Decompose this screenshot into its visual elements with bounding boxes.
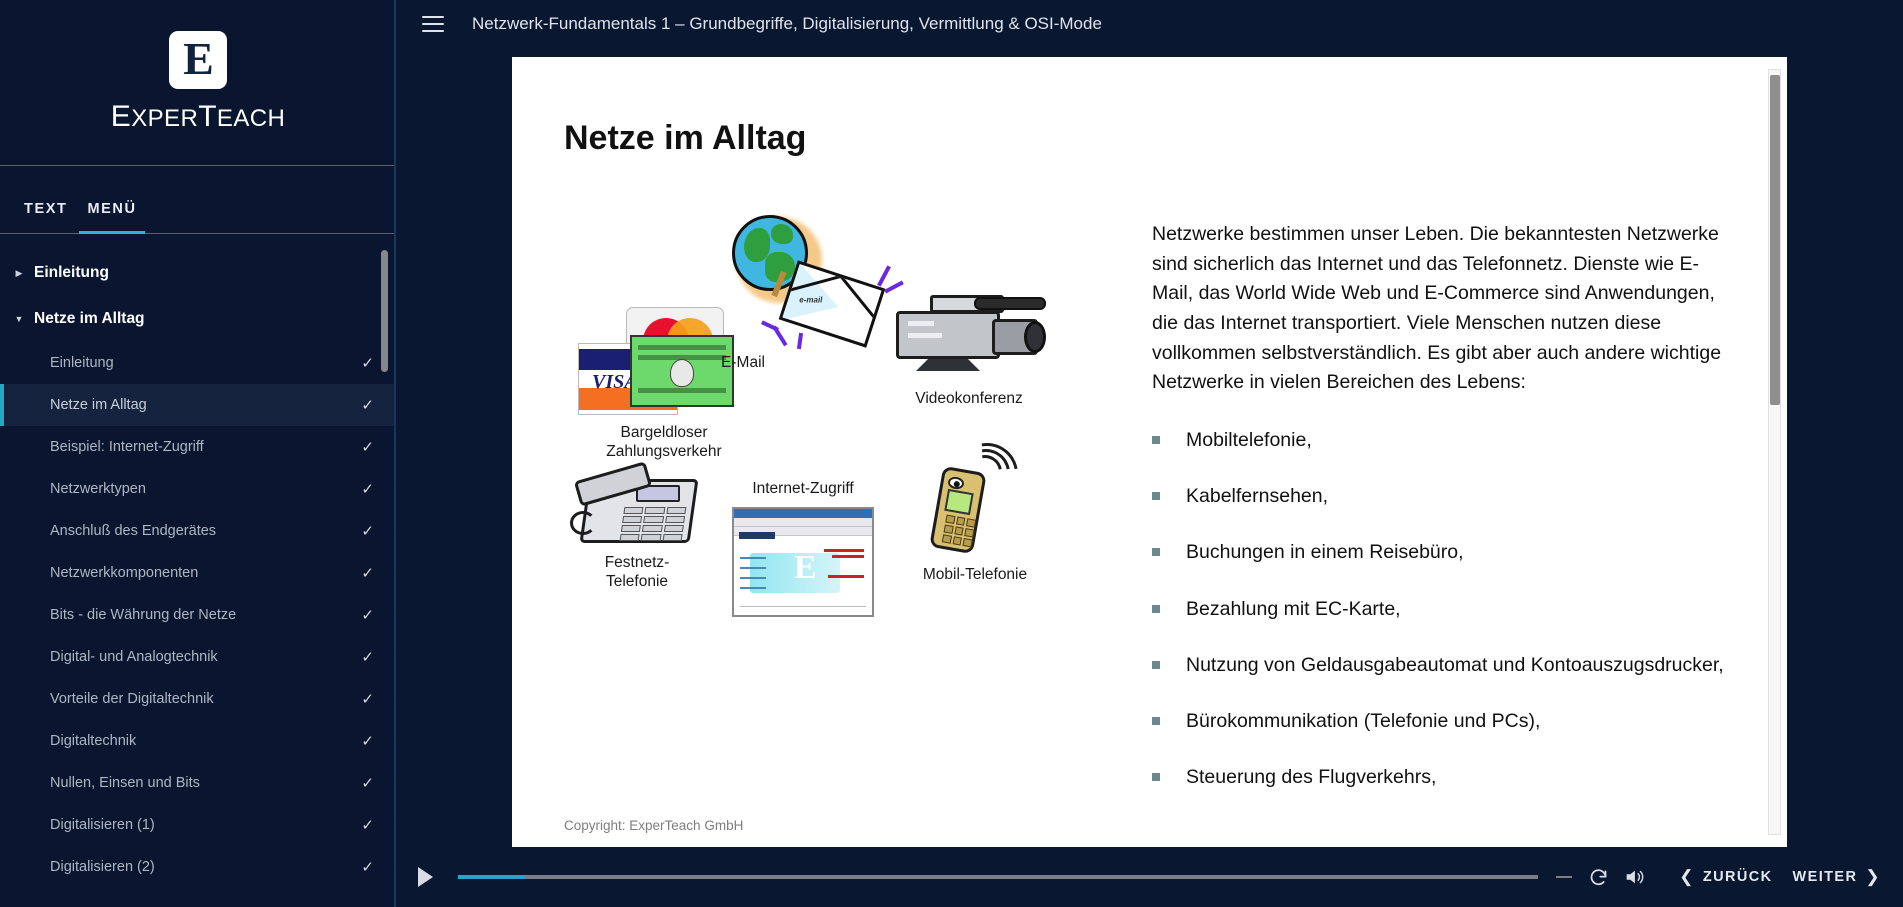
label-festnetz-telefonie: Festnetz- Telefonie bbox=[562, 553, 712, 592]
chevron-left-icon: ❮ bbox=[1679, 867, 1695, 887]
play-icon[interactable] bbox=[410, 862, 440, 892]
course-title: Netzwerk-Fundamentals 1 – Grundbegriffe,… bbox=[472, 14, 1102, 34]
check-icon: ✓ bbox=[358, 608, 374, 623]
list-item: Buchungen in einem Reisebüro, bbox=[1152, 538, 1739, 567]
sidebar-item-label: Digitalisieren (1) bbox=[50, 817, 155, 833]
menu-list: ▶ Einleitung ▼ Netze im Alltag Einleitun… bbox=[0, 250, 396, 907]
list-item: Steuerung des Flugverkehrs, bbox=[1152, 763, 1739, 792]
list-item-label: Buchungen in einem Reisebüro, bbox=[1186, 538, 1464, 567]
check-icon: ✓ bbox=[358, 734, 374, 749]
envelope-icon: e-mail bbox=[779, 260, 886, 347]
check-icon: ✓ bbox=[358, 440, 374, 455]
sidebar-item-label: Anschluß des Endgerätes bbox=[50, 523, 216, 539]
bullet-square-icon bbox=[1152, 548, 1160, 556]
menu-scroll-region[interactable]: ▶ Einleitung ▼ Netze im Alltag Einleitun… bbox=[0, 234, 396, 907]
sidebar-item-vorteile-der-digitaltechnik[interactable]: Vorteile der Digitaltechnik ✓ bbox=[0, 678, 396, 720]
label-bargeldloser-zahlungsverkehr: Bargeldloser Zahlungsverkehr bbox=[554, 423, 774, 462]
chevron-right-icon: ❯ bbox=[1865, 867, 1881, 887]
alltag-illustration: MasterCard VISA bbox=[512, 207, 1102, 799]
menu-group-label: Netze im Alltag bbox=[34, 310, 145, 328]
elearning-player-app: E EXPERTEACH TEXT MENÜ ▶ Einleitung ▼ Ne… bbox=[0, 0, 1903, 907]
experteach-logo-icon: E bbox=[169, 31, 227, 89]
slide-stage: Netze im Alltag MasterCard bbox=[396, 48, 1903, 847]
check-icon: ✓ bbox=[358, 818, 374, 833]
sidebar-item-digitaltechnik[interactable]: Digitaltechnik ✓ bbox=[0, 720, 396, 762]
list-item: Nutzung von Geldausgabeautomat und Konto… bbox=[1152, 651, 1739, 680]
back-button[interactable]: ❮ ZURÜCK bbox=[1679, 867, 1772, 887]
sidebar-item-label: Digitalisieren (2) bbox=[50, 859, 155, 875]
divider-dash bbox=[1556, 876, 1572, 878]
sidebar-item-label: Einleitung bbox=[50, 355, 114, 371]
sidebar-item-digitalisieren-1[interactable]: Digitalisieren (1) ✓ bbox=[0, 804, 396, 846]
next-button-label: WEITER bbox=[1793, 869, 1858, 885]
next-button[interactable]: WEITER ❯ bbox=[1793, 867, 1881, 887]
brand-header: E EXPERTEACH bbox=[0, 0, 396, 166]
top-bar: Netzwerk-Fundamentals 1 – Grundbegriffe,… bbox=[396, 0, 1903, 48]
bullet-square-icon bbox=[1152, 773, 1160, 781]
examples-list: Mobiltelefonie, Kabelfernsehen, Buchunge… bbox=[1152, 426, 1739, 793]
bullet-square-icon bbox=[1152, 436, 1160, 444]
progress-slider[interactable] bbox=[458, 875, 1538, 879]
label-mobil-telefonie: Mobil-Telefonie bbox=[900, 565, 1050, 584]
sidebar-item-label: Digitaltechnik bbox=[50, 733, 136, 749]
menu-group-einleitung[interactable]: ▶ Einleitung bbox=[0, 250, 396, 296]
check-icon: ✓ bbox=[358, 482, 374, 497]
sidebar-item-netzwerkkomponenten[interactable]: Netzwerkkomponenten ✓ bbox=[0, 552, 396, 594]
sidebar-item-label: Nullen, Einsen und Bits bbox=[50, 775, 200, 791]
check-icon: ✓ bbox=[358, 524, 374, 539]
mobile-phone-icon bbox=[910, 455, 1030, 565]
list-item-label: Bezahlung mit EC-Karte, bbox=[1186, 595, 1401, 624]
sidebar-item-anschluss-des-endgeraetes[interactable]: Anschluß des Endgerätes ✓ bbox=[0, 510, 396, 552]
label-internet-zugriff: Internet-Zugriff bbox=[708, 479, 898, 498]
bullet-square-icon bbox=[1152, 492, 1160, 500]
sidebar-item-bits-waehrung-der-netze[interactable]: Bits - die Währung der Netze ✓ bbox=[0, 594, 396, 636]
copyright-text: Copyright: ExperTeach GmbH bbox=[564, 818, 743, 833]
sidebar-item-label: Netzwerkkomponenten bbox=[50, 565, 198, 581]
list-item: Bürokommunikation (Telefonie und PCs), bbox=[1152, 707, 1739, 736]
list-item-label: Mobiltelefonie, bbox=[1186, 426, 1312, 455]
check-icon: ✓ bbox=[358, 356, 374, 371]
replay-icon[interactable] bbox=[1588, 867, 1609, 888]
sidebar-item-label: Beispiel: Internet-Zugriff bbox=[50, 439, 204, 455]
chevron-down-icon: ▼ bbox=[10, 315, 28, 324]
check-icon: ✓ bbox=[358, 398, 374, 413]
envelope-label: e-mail bbox=[799, 295, 822, 304]
logo-letter: E bbox=[183, 36, 213, 82]
email-globe-icon: e-mail bbox=[724, 213, 904, 358]
slide: Netze im Alltag MasterCard bbox=[512, 57, 1787, 847]
intro-paragraph: Netzwerke bestimmen unser Leben. Die bek… bbox=[1152, 220, 1739, 398]
list-item-label: Nutzung von Geldausgabeautomat und Konto… bbox=[1186, 651, 1724, 680]
chevron-right-icon: ▶ bbox=[10, 269, 28, 278]
check-icon: ✓ bbox=[358, 650, 374, 665]
menu-group-netze-im-alltag[interactable]: ▼ Netze im Alltag bbox=[0, 296, 396, 342]
sidebar-scrollbar-thumb[interactable] bbox=[381, 250, 388, 372]
sidebar-item-label: Netzwerktypen bbox=[50, 481, 146, 497]
sidebar-tabs: TEXT MENÜ bbox=[0, 166, 396, 234]
check-icon: ✓ bbox=[358, 860, 374, 875]
menu-group-label: Einleitung bbox=[34, 264, 109, 282]
sidebar-item-label: Bits - die Währung der Netze bbox=[50, 607, 236, 623]
slide-body: MasterCard VISA bbox=[512, 207, 1787, 799]
label-videokonferenz: Videokonferenz bbox=[884, 389, 1054, 408]
browser-window-icon: E bbox=[732, 507, 874, 617]
progress-fill bbox=[458, 875, 525, 879]
check-icon: ✓ bbox=[358, 776, 374, 791]
list-item-label: Bürokommunikation (Telefonie und PCs), bbox=[1186, 707, 1540, 736]
list-item: Kabelfernsehen, bbox=[1152, 482, 1739, 511]
player-bar: ❮ ZURÜCK WEITER ❯ bbox=[396, 847, 1903, 907]
list-item-label: Steuerung des Flugverkehrs, bbox=[1186, 763, 1436, 792]
main-area: Netzwerk-Fundamentals 1 – Grundbegriffe,… bbox=[396, 0, 1903, 907]
check-icon: ✓ bbox=[358, 566, 374, 581]
sidebar-item-einleitung[interactable]: Einleitung ✓ bbox=[0, 342, 396, 384]
sidebar-item-netzwerktypen[interactable]: Netzwerktypen ✓ bbox=[0, 468, 396, 510]
list-item-label: Kabelfernsehen, bbox=[1186, 482, 1328, 511]
bullet-square-icon bbox=[1152, 605, 1160, 613]
hamburger-icon[interactable] bbox=[422, 16, 444, 32]
sidebar-item-netze-im-alltag[interactable]: Netze im Alltag ✓ bbox=[0, 384, 396, 426]
check-icon: ✓ bbox=[358, 692, 374, 707]
slide-title: Netze im Alltag bbox=[564, 119, 806, 158]
sidebar-item-label: Vorteile der Digitaltechnik bbox=[50, 691, 214, 707]
sidebar: E EXPERTEACH TEXT MENÜ ▶ Einleitung ▼ Ne… bbox=[0, 0, 396, 907]
illustration-column: MasterCard VISA bbox=[512, 207, 1102, 799]
list-item: Mobiltelefonie, bbox=[1152, 426, 1739, 455]
sidebar-item-digitalisieren-2[interactable]: Digitalisieren (2) ✓ bbox=[0, 846, 396, 888]
sidebar-item-digital-und-analogtechnik[interactable]: Digital- und Analogtechnik ✓ bbox=[0, 636, 396, 678]
sidebar-item-nullen-einsen-und-bits[interactable]: Nullen, Einsen und Bits ✓ bbox=[0, 762, 396, 804]
volume-icon[interactable] bbox=[1623, 866, 1645, 888]
bullet-square-icon bbox=[1152, 717, 1160, 725]
sidebar-item-label: Netze im Alltag bbox=[50, 397, 147, 413]
text-column: Netzwerke bestimmen unser Leben. Die bek… bbox=[1102, 207, 1787, 799]
brand-wordmark: EXPERTEACH bbox=[111, 100, 285, 134]
tab-text[interactable]: TEXT bbox=[16, 201, 75, 234]
label-email: E-Mail bbox=[698, 353, 788, 372]
sidebar-item-label: Digital- und Analogtechnik bbox=[50, 649, 218, 665]
video-camera-icon bbox=[896, 289, 1046, 375]
sidebar-item-beispiel-internet-zugriff[interactable]: Beispiel: Internet-Zugriff ✓ bbox=[0, 426, 396, 468]
landline-phone-icon bbox=[570, 459, 700, 551]
slide-scrollbar-thumb[interactable] bbox=[1770, 75, 1780, 405]
back-button-label: ZURÜCK bbox=[1703, 869, 1773, 885]
list-item: Bezahlung mit EC-Karte, bbox=[1152, 595, 1739, 624]
bullet-square-icon bbox=[1152, 661, 1160, 669]
tab-menu[interactable]: MENÜ bbox=[79, 201, 144, 234]
